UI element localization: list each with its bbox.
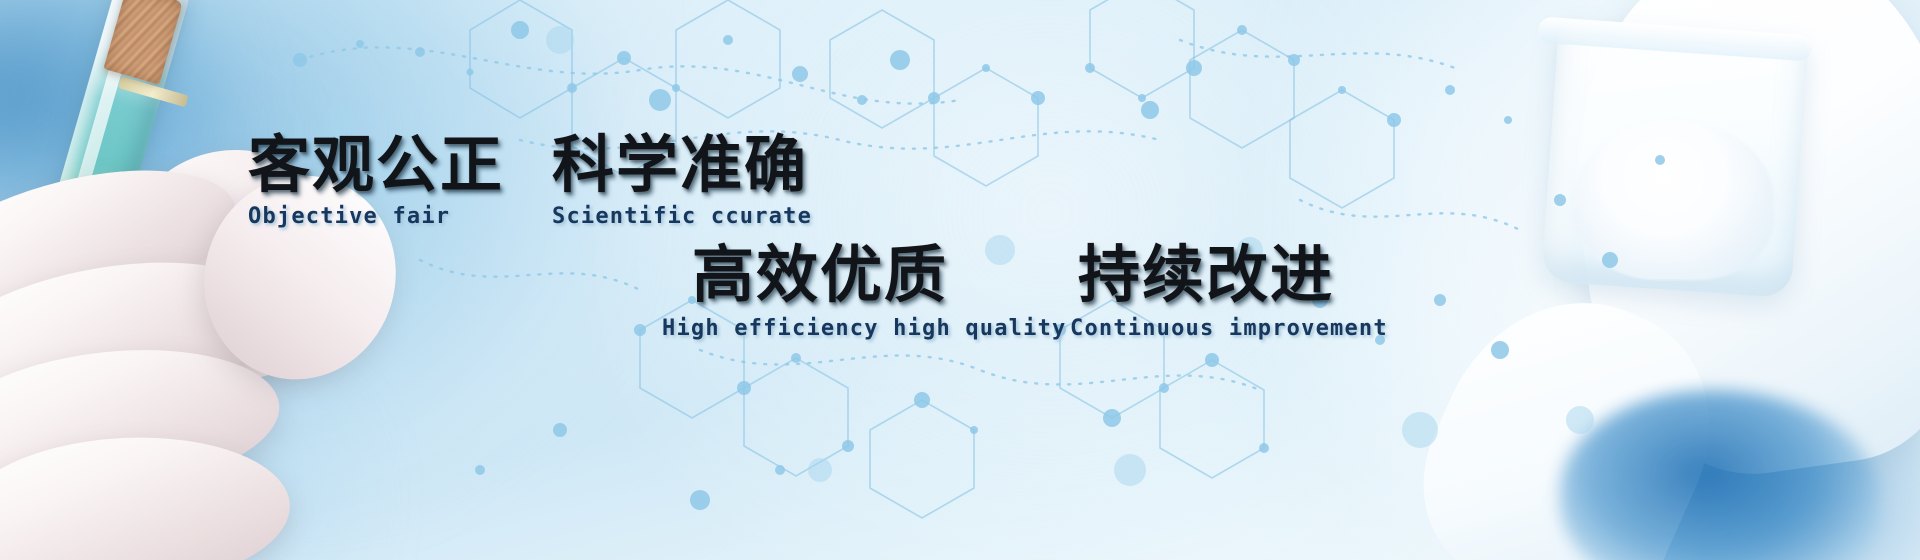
slogan-high-efficiency: 高效优质 High efficiency high quality [692,243,1066,341]
slogan-high-efficiency-chinese: 高效优质 [692,243,1066,308]
slogan-high-efficiency-english: High efficiency high quality [662,316,1066,341]
slogan-scientific-accurate-chinese: 科学准确 [552,133,812,198]
slogan-objective-fair: 客观公正 Objective fair [248,133,504,229]
slogan-objective-fair-chinese: 客观公正 [248,133,504,198]
slogan-text-layer: 客观公正 Objective fair 科学准确 Scientific ccur… [0,0,1920,560]
slogan-continuous-improvement-chinese: 持续改进 [1078,243,1388,308]
slogan-scientific-accurate-english: Scientific ccurate [552,204,812,229]
lab-services-banner: 客观公正 Objective fair 科学准确 Scientific ccur… [0,0,1920,560]
slogan-scientific-accurate: 科学准确 Scientific ccurate [552,133,812,229]
slogan-objective-fair-english: Objective fair [248,204,504,229]
slogan-continuous-improvement: 持续改进 Continuous improvement [1078,243,1388,341]
slogan-continuous-improvement-english: Continuous improvement [1070,316,1388,341]
